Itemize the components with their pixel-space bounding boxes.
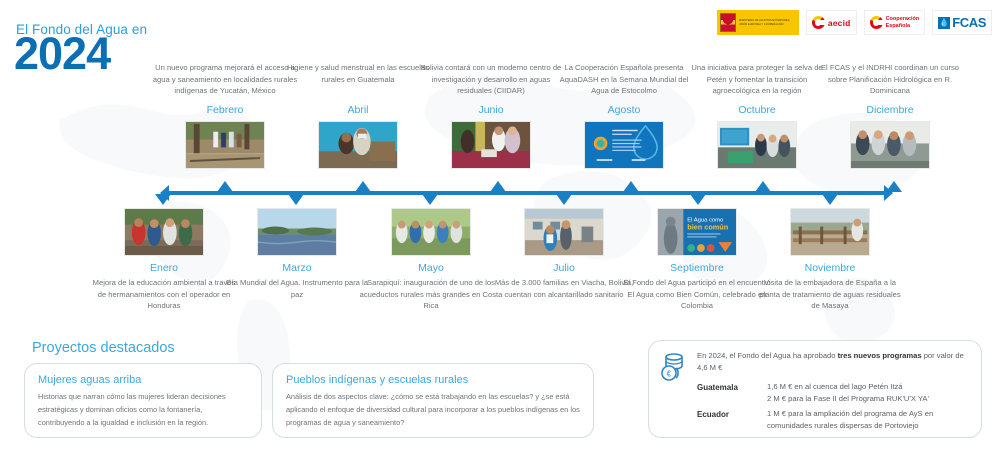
timeline-marker-octubre	[755, 181, 771, 192]
timeline-item-noviembre[interactable]: Noviembre Visita de la embajadora de Esp…	[754, 208, 906, 312]
timeline-item-octubre[interactable]: Una iniciativa para proteger la selva de…	[681, 62, 833, 169]
funding-values: 1 M € para la ampliación del programa de…	[767, 408, 933, 433]
projects-section-title: Proyectos destacados	[32, 340, 175, 356]
project-card-mujeres-aguas-arriba[interactable]: Mujeres aguas arriba Historias que narra…	[24, 363, 262, 438]
timeline-item-month: Noviembre	[754, 262, 906, 274]
funding-row-ecuador: Ecuador 1 M € para la ampliación del pro…	[697, 408, 969, 433]
project-card-pueblos-indigenas[interactable]: Pueblos indígenas y escuelas rurales Aná…	[272, 363, 594, 438]
timeline-item-description: Bolivia contará con un moderno centro de…	[415, 62, 567, 98]
funding-country: Guatemala	[697, 381, 767, 406]
timeline-item-septiembre[interactable]: El Agua como bien común Septiembre El Fo…	[621, 208, 773, 312]
svg-text:bien común: bien común	[687, 222, 728, 231]
funding-summary-card: € En 2024, el Fondo del Agua ha aprobado…	[648, 340, 982, 438]
timeline-item-month: Julio	[488, 262, 640, 274]
coins-icon: €	[659, 350, 689, 428]
timeline-item-description: La Cooperación Española presenta AquaDAS…	[548, 62, 700, 98]
timeline-item-description: El FCAS y el INDRHI coordinan un curso s…	[814, 62, 966, 98]
timeline-axis	[168, 191, 890, 195]
funding-intro-highlight: tres nuevos programas	[838, 351, 922, 360]
aecid-logo: aecid	[806, 10, 857, 35]
project-card-title: Pueblos indígenas y escuelas rurales	[286, 374, 580, 386]
logo-bar: MINISTERIO DE ASUNTOS EXTERIORES, UNIÓN …	[717, 10, 992, 35]
timeline-marker-agosto	[623, 181, 639, 192]
photo-julio-familias-viacha[interactable]	[524, 208, 604, 256]
funding-value: 2 M € para la Fase II del Programa RUK'U…	[767, 393, 929, 406]
photo-abril-escuela-guatemala[interactable]	[318, 121, 398, 169]
timeline-item-month: Septiembre	[621, 262, 773, 274]
fcas-logo: 💧 FCAS	[932, 10, 992, 35]
photo-noviembre-planta-masaya[interactable]	[790, 208, 870, 256]
timeline-item-description: Una iniciativa para proteger la selva de…	[681, 62, 833, 98]
timeline-item-description: Más de 3.000 familias en Viacha, Bolivia…	[488, 277, 640, 300]
project-card-body: Análisis de dos aspectos clave: ¿cómo se…	[286, 391, 580, 430]
timeline-marker-septiembre	[690, 194, 706, 205]
timeline-item-month: Junio	[415, 104, 567, 116]
aecid-c-icon	[812, 16, 825, 29]
timeline-item-month: Marzo	[221, 262, 373, 274]
funding-rows: Guatemala 1,6 M € en al cuenca del lago …	[697, 381, 969, 433]
aecid-logo-text: aecid	[828, 18, 851, 28]
timeline-item-description: Día Mundial del Agua. Instrumento para l…	[221, 277, 373, 300]
infographic-page: El Fondo del Agua en 2024 MINISTERIO DE …	[0, 0, 1000, 460]
spain-coat-of-arms-icon	[720, 13, 736, 32]
cooperacion-line1: Cooperación	[886, 16, 920, 22]
timeline-item-diciembre[interactable]: El FCAS y el INDRHI coordinan un curso s…	[814, 62, 966, 169]
photo-junio-acto-bolivia[interactable]	[451, 121, 531, 169]
funding-value: 1,6 M € en al cuenca del lago Petén Itzá	[767, 381, 929, 394]
photo-mayo-acueducto-costa-rica[interactable]	[391, 208, 471, 256]
timeline-item-julio[interactable]: Julio Más de 3.000 familias en Viacha, B…	[488, 208, 640, 300]
timeline-item-description: El Fondo del Agua participó en el encuen…	[621, 277, 773, 312]
timeline-marker-diciembre	[886, 181, 902, 192]
timeline-item-agosto[interactable]: La Cooperación Española presenta AquaDAS…	[548, 62, 700, 169]
ministry-logo-text: MINISTERIO DE ASUNTOS EXTERIORES, UNIÓN …	[739, 19, 795, 26]
ministry-logo: MINISTERIO DE ASUNTOS EXTERIORES, UNIÓN …	[717, 10, 799, 35]
photo-enero-hermanamiento-honduras[interactable]	[124, 208, 204, 256]
photo-octubre-acto-peten[interactable]	[717, 121, 797, 169]
funding-row-guatemala: Guatemala 1,6 M € en al cuenca del lago …	[697, 381, 969, 406]
timeline-item-description: Visita de la embajadora de España a la p…	[754, 277, 906, 312]
cooperacion-c-icon	[870, 16, 883, 29]
timeline-item-marzo[interactable]: Marzo Día Mundial del Agua. Instrumento …	[221, 208, 373, 300]
funding-intro-pre: En 2024, el Fondo del Agua ha aprobado	[697, 351, 838, 360]
photo-agosto-cartel-aquadash[interactable]	[584, 121, 664, 169]
timeline-item-junio[interactable]: Bolivia contará con un moderno centro de…	[415, 62, 567, 169]
timeline-marker-marzo	[288, 194, 304, 205]
timeline-item-description: Un nuevo programa mejorará el acceso a a…	[149, 62, 301, 98]
timeline-item-month: Enero	[88, 262, 240, 274]
project-card-body: Historias que narran cómo las mujeres li…	[38, 391, 248, 430]
timeline-item-description: Higiene y salud menstrual en las escuela…	[282, 62, 434, 98]
project-card-title: Mujeres aguas arriba	[38, 374, 248, 386]
timeline-item-description: Mejora de la educación ambiental a travé…	[88, 277, 240, 312]
fcas-logo-text: FCAS	[952, 15, 986, 30]
timeline-item-month: Octubre	[681, 104, 833, 116]
timeline-marker-julio	[556, 194, 572, 205]
timeline-item-abril[interactable]: Higiene y salud menstrual en las escuela…	[282, 62, 434, 169]
cooperacion-line2: Española	[886, 23, 920, 29]
funding-country: Ecuador	[697, 408, 767, 433]
timeline-marker-junio	[490, 181, 506, 192]
photo-febrero-comunidad-rural[interactable]	[185, 121, 265, 169]
header-year: 2024	[14, 31, 110, 76]
timeline-item-enero[interactable]: Enero Mejora de la educación ambiental a…	[88, 208, 240, 312]
timeline-item-febrero[interactable]: Un nuevo programa mejorará el acceso a a…	[149, 62, 301, 169]
funding-intro: En 2024, el Fondo del Agua ha aprobado t…	[697, 350, 969, 374]
timeline-marker-mayo	[422, 194, 438, 205]
timeline-item-description: Sarapiquí: inauguración de uno de los ac…	[355, 277, 507, 312]
timeline-item-mayo[interactable]: Mayo Sarapiquí: inauguración de uno de l…	[355, 208, 507, 312]
timeline-marker-enero	[155, 194, 171, 205]
svg-text:€: €	[667, 370, 672, 379]
timeline-item-month: Abril	[282, 104, 434, 116]
water-drop-icon: 💧	[938, 17, 950, 29]
timeline-marker-noviembre	[822, 194, 838, 205]
funding-values: 1,6 M € en al cuenca del lago Petén Itzá…	[767, 381, 929, 406]
funding-value: comunidades rurales dispersas de Portovi…	[767, 420, 933, 433]
timeline-item-month: Mayo	[355, 262, 507, 274]
photo-marzo-laguna[interactable]	[257, 208, 337, 256]
photo-septiembre-encuentro-colombia[interactable]: El Agua como bien común	[657, 208, 737, 256]
funding-value: 1 M € para la ampliación del programa de…	[767, 408, 933, 421]
timeline-marker-abril	[355, 181, 371, 192]
timeline-item-month: Diciembre	[814, 104, 966, 116]
timeline-marker-febrero	[217, 181, 233, 192]
cooperacion-espanola-logo: Cooperación Española	[864, 10, 926, 35]
photo-diciembre-curso-dominicana[interactable]	[850, 121, 930, 169]
timeline-item-month: Agosto	[548, 104, 700, 116]
timeline-item-month: Febrero	[149, 104, 301, 116]
